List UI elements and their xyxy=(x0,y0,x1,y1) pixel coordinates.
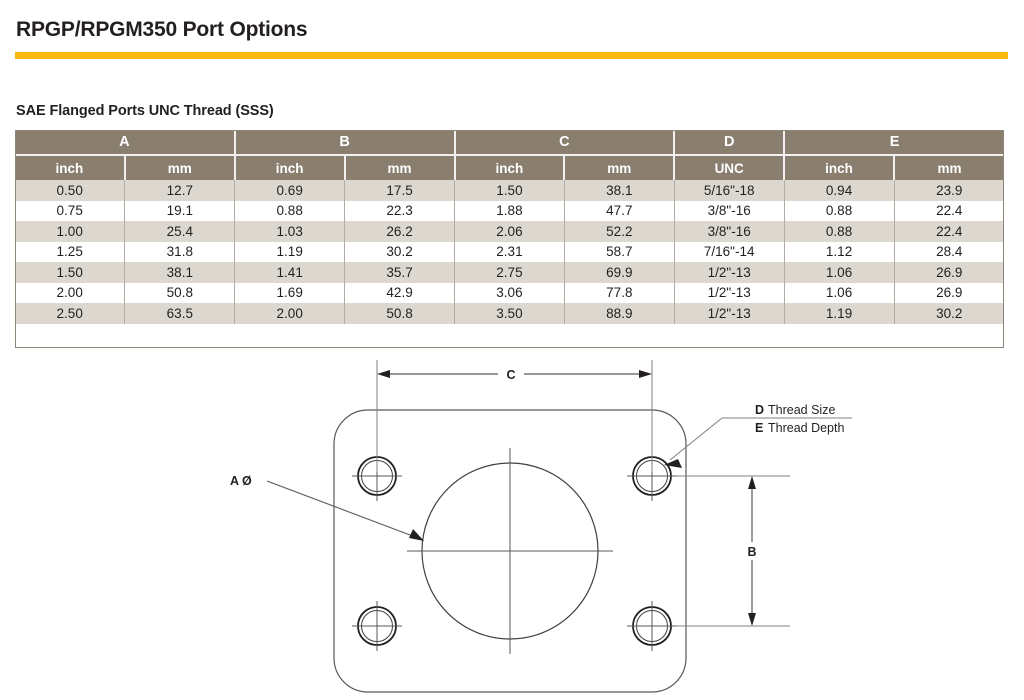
cell: 42.9 xyxy=(345,283,455,304)
unit-header-e-mm: mm xyxy=(894,155,1004,180)
cell: 30.2 xyxy=(345,242,455,263)
dimension-c-label: C xyxy=(506,368,515,382)
title-accent-rule xyxy=(15,52,1008,59)
cell: 1.06 xyxy=(784,283,894,304)
cell: 1.19 xyxy=(235,242,345,263)
cell: 50.8 xyxy=(125,283,235,304)
cell: 1.25 xyxy=(15,242,125,263)
cell: 2.50 xyxy=(15,303,125,324)
sae-flanged-ports-table: A B C D E inch mm inch mm inch mm UNC in… xyxy=(15,130,1004,324)
unit-header-a-inch: inch xyxy=(15,155,125,180)
dimension-b-arrow-top xyxy=(748,476,756,489)
table-units-header-row: inch mm inch mm inch mm UNC inch mm xyxy=(15,155,1004,180)
cell: 0.50 xyxy=(15,180,125,201)
cell: 2.31 xyxy=(455,242,565,263)
table-row: 0.50 12.7 0.69 17.5 1.50 38.1 5/16"-18 0… xyxy=(15,180,1004,201)
table-head: A B C D E inch mm inch mm inch mm UNC in… xyxy=(15,130,1004,180)
flange-port-drawing: C B A Ø D Thread Size E Thread Depth xyxy=(0,352,1024,700)
group-header-d: D xyxy=(674,130,784,155)
cell: 0.69 xyxy=(235,180,345,201)
cell: 12.7 xyxy=(125,180,235,201)
cell: 69.9 xyxy=(564,262,674,283)
cell: 1.41 xyxy=(235,262,345,283)
unit-header-a-mm: mm xyxy=(125,155,235,180)
cell: 47.7 xyxy=(564,201,674,222)
cell: 1.88 xyxy=(455,201,565,222)
dimension-b: B xyxy=(676,476,790,626)
unit-header-e-inch: inch xyxy=(784,155,894,180)
cell: 17.5 xyxy=(345,180,455,201)
cell: 0.88 xyxy=(235,201,345,222)
cell: 22.4 xyxy=(894,221,1004,242)
unit-header-d-unc: UNC xyxy=(674,155,784,180)
callout-d-key: D xyxy=(755,403,764,417)
page-title: RPGP/RPGM350 Port Options xyxy=(16,18,307,42)
cell: 0.75 xyxy=(15,201,125,222)
dimension-b-label: B xyxy=(747,545,756,559)
cell: 26.9 xyxy=(894,283,1004,304)
cell: 77.8 xyxy=(564,283,674,304)
section-subtitle: SAE Flanged Ports UNC Thread (SSS) xyxy=(16,103,274,119)
table-row: 1.50 38.1 1.41 35.7 2.75 69.9 1/2"-13 1.… xyxy=(15,262,1004,283)
cell: 38.1 xyxy=(125,262,235,283)
cell: 1.06 xyxy=(784,262,894,283)
group-header-a: A xyxy=(15,130,235,155)
cell: 3.06 xyxy=(455,283,565,304)
dimension-c-arrow-left xyxy=(377,370,390,378)
cell: 28.4 xyxy=(894,242,1004,263)
cell: 38.1 xyxy=(564,180,674,201)
table-row: 0.75 19.1 0.88 22.3 1.88 47.7 3/8"-16 0.… xyxy=(15,201,1004,222)
cell: 1.12 xyxy=(784,242,894,263)
cell: 31.8 xyxy=(125,242,235,263)
cell: 23.9 xyxy=(894,180,1004,201)
callout-d-text: Thread Size xyxy=(768,403,835,417)
cell: 35.7 xyxy=(345,262,455,283)
table-row: 2.00 50.8 1.69 42.9 3.06 77.8 1/2"-13 1.… xyxy=(15,283,1004,304)
cell: 25.4 xyxy=(125,221,235,242)
cell: 0.88 xyxy=(784,221,894,242)
cell: 52.2 xyxy=(564,221,674,242)
cell: 2.06 xyxy=(455,221,565,242)
cell: 0.88 xyxy=(784,201,894,222)
cell: 2.75 xyxy=(455,262,565,283)
cell: 63.5 xyxy=(125,303,235,324)
table-row: 1.00 25.4 1.03 26.2 2.06 52.2 3/8"-16 0.… xyxy=(15,221,1004,242)
callout-a-label: A Ø xyxy=(230,474,252,488)
table-body: 0.50 12.7 0.69 17.5 1.50 38.1 5/16"-18 0… xyxy=(15,180,1004,324)
cell: 1.69 xyxy=(235,283,345,304)
cell: 1.00 xyxy=(15,221,125,242)
group-header-e: E xyxy=(784,130,1004,155)
cell: 1.03 xyxy=(235,221,345,242)
table-group-header-row: A B C D E xyxy=(15,130,1004,155)
callout-thread: D Thread Size E Thread Depth xyxy=(664,403,852,468)
cell: 3.50 xyxy=(455,303,565,324)
cell: 26.2 xyxy=(345,221,455,242)
unit-header-c-mm: mm xyxy=(564,155,674,180)
dimension-b-arrow-bottom xyxy=(748,613,756,626)
callout-e-text: Thread Depth xyxy=(768,421,844,435)
table-row: 1.25 31.8 1.19 30.2 2.31 58.7 7/16"-14 1… xyxy=(15,242,1004,263)
group-header-c: C xyxy=(455,130,675,155)
cell: 30.2 xyxy=(894,303,1004,324)
cell: 26.9 xyxy=(894,262,1004,283)
cell: 88.9 xyxy=(564,303,674,324)
unit-header-b-mm: mm xyxy=(345,155,455,180)
cell: 5/16"-18 xyxy=(674,180,784,201)
cell: 1.50 xyxy=(455,180,565,201)
spec-table-container: A B C D E inch mm inch mm inch mm UNC in… xyxy=(15,130,1004,324)
cell: 1.50 xyxy=(15,262,125,283)
cell: 3/8"-16 xyxy=(674,201,784,222)
cell: 58.7 xyxy=(564,242,674,263)
cell: 3/8"-16 xyxy=(674,221,784,242)
cell: 22.3 xyxy=(345,201,455,222)
cell: 0.94 xyxy=(784,180,894,201)
unit-header-b-inch: inch xyxy=(235,155,345,180)
cell: 2.00 xyxy=(235,303,345,324)
unit-header-c-inch: inch xyxy=(455,155,565,180)
callout-e-key: E xyxy=(755,421,763,435)
cell: 2.00 xyxy=(15,283,125,304)
cell: 7/16"-14 xyxy=(674,242,784,263)
cell: 1/2"-13 xyxy=(674,283,784,304)
table-row: 2.50 63.5 2.00 50.8 3.50 88.9 1/2"-13 1.… xyxy=(15,303,1004,324)
cell: 50.8 xyxy=(345,303,455,324)
cell: 19.1 xyxy=(125,201,235,222)
dimension-c-arrow-right xyxy=(639,370,652,378)
cell: 1/2"-13 xyxy=(674,303,784,324)
cell: 1/2"-13 xyxy=(674,262,784,283)
group-header-b: B xyxy=(235,130,455,155)
cell: 22.4 xyxy=(894,201,1004,222)
cell: 1.19 xyxy=(784,303,894,324)
